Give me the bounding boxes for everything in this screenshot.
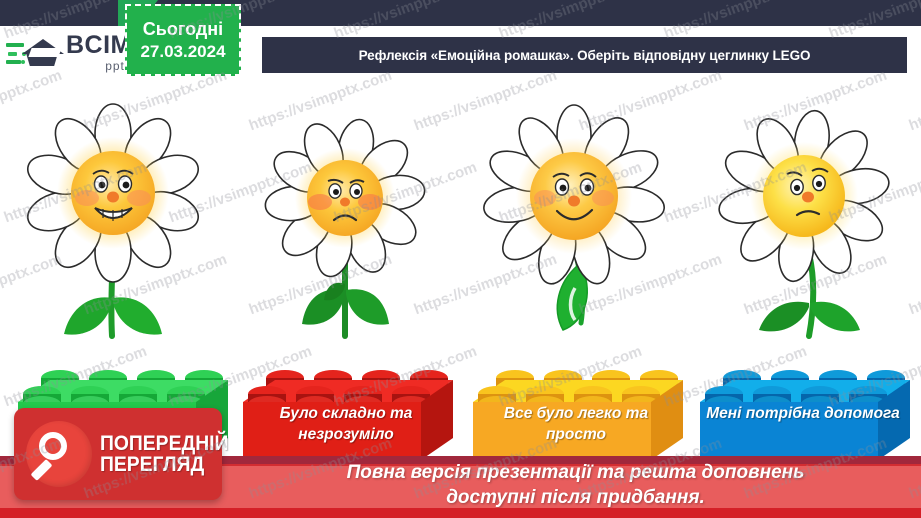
date-badge-date: 27.03.2024 xyxy=(140,41,225,62)
daisy-worried xyxy=(711,98,901,348)
preview-badge-line2: ПЕРЕГЛЯД xyxy=(100,454,228,475)
daisy-smiling xyxy=(481,98,671,348)
date-badge-label: Сьогодні xyxy=(143,18,223,41)
flower-cell-1 xyxy=(0,90,230,358)
preview-badge[interactable]: ПОПЕРЕДНІЙ ПЕРЕГЛЯД xyxy=(14,408,222,500)
preview-badge-line1: ПОПЕРЕДНІЙ xyxy=(100,433,228,454)
brand-logo[interactable]: BCIM pptx xyxy=(6,27,136,77)
graduation-cap-icon xyxy=(6,31,62,73)
flower-cell-2 xyxy=(230,90,460,358)
flower-cell-4 xyxy=(691,90,921,358)
brand-subtitle: pptx xyxy=(66,60,132,72)
lego-brick-blue[interactable]: Мені потрібна допомога xyxy=(700,362,910,462)
daisy-happy xyxy=(20,98,210,348)
daisy-sad xyxy=(250,98,440,348)
page-title: Рефлексія «Емоційна ромашка». Оберіть ві… xyxy=(359,48,811,63)
lego-brick-yellow[interactable]: Все було легко та просто xyxy=(473,362,683,462)
magnifying-glass-icon xyxy=(26,421,92,487)
brand-name: BCIM xyxy=(66,33,132,58)
flowers-row xyxy=(0,90,921,358)
flower-cell-3 xyxy=(461,90,691,358)
bottom-red-strip xyxy=(0,508,921,518)
slide-root: BCIM pptx Сьогодні 27.03.2024 Рефлексія … xyxy=(0,0,921,518)
lego-brick-red[interactable]: Було складно та незрозуміло xyxy=(243,362,453,462)
date-badge: Сьогодні 27.03.2024 xyxy=(125,4,241,76)
slide-title-bar: Рефлексія «Емоційна ромашка». Оберіть ві… xyxy=(262,37,907,73)
